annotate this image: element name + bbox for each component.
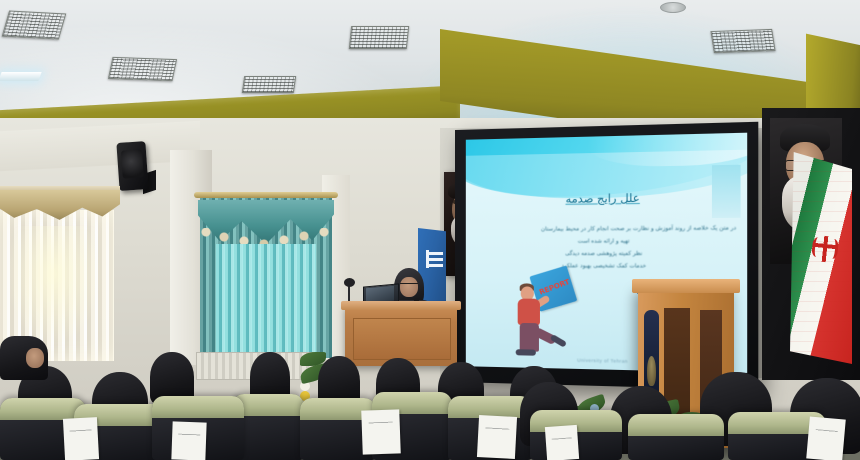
ceiling-light bbox=[0, 72, 42, 81]
slide-body-line: در متن یک خلاصه از روند آموزش و نظارت بر… bbox=[478, 222, 736, 236]
handout-text-lines bbox=[179, 434, 200, 437]
handout-text-lines bbox=[552, 437, 572, 440]
iran-emblem-icon bbox=[813, 235, 838, 263]
auditorium-seat bbox=[628, 414, 724, 460]
handout-text-lines bbox=[70, 429, 91, 432]
hvac-vent-icon bbox=[108, 57, 177, 81]
window-center-teal-curtains bbox=[200, 198, 332, 358]
handout-text-lines bbox=[369, 422, 393, 425]
curtain-rod-center bbox=[194, 192, 338, 198]
handout-paper[interactable] bbox=[806, 417, 846, 460]
handout-paper[interactable] bbox=[361, 409, 401, 454]
university-logo-icon bbox=[426, 250, 443, 268]
iran-national-flag bbox=[790, 152, 852, 364]
handout-paper[interactable] bbox=[171, 421, 206, 460]
glasses-icon bbox=[400, 283, 418, 288]
curtain-backlit-area bbox=[216, 244, 316, 358]
presenter-desk bbox=[345, 306, 457, 366]
hvac-vent-icon bbox=[242, 76, 296, 93]
handout-paper[interactable] bbox=[63, 417, 99, 460]
desk-top bbox=[341, 301, 461, 310]
slide-body-line: تهیه و ارائه شده است bbox=[478, 235, 736, 248]
desk-front-panel bbox=[353, 318, 451, 360]
shoe bbox=[550, 334, 567, 348]
legs bbox=[520, 323, 539, 352]
handout-text-lines bbox=[815, 429, 837, 433]
attendee-with-cap bbox=[0, 336, 48, 380]
hvac-vent-icon bbox=[710, 29, 775, 53]
seat-headrest-pad bbox=[628, 414, 724, 436]
face bbox=[26, 348, 44, 368]
shoe bbox=[516, 349, 536, 356]
hvac-vent-icon bbox=[349, 26, 409, 49]
conference-hall-photo: علل رایج صدمه در متن یک خلاصه از روند آم… bbox=[0, 0, 860, 460]
podium-ornament-motif bbox=[647, 356, 656, 386]
handout-paper[interactable] bbox=[545, 425, 579, 460]
torso bbox=[518, 299, 540, 326]
pa-speaker-icon bbox=[116, 141, 148, 191]
podium-top bbox=[632, 279, 740, 293]
slide-body-line: نظر کمیته پژوهشی صدمه دیدگی bbox=[478, 248, 736, 261]
handout-text-lines bbox=[486, 427, 510, 430]
slide-title-text: علل رایج صدمه bbox=[566, 192, 640, 206]
report-book-label: REPORT bbox=[538, 278, 571, 297]
curtain-fringe-trim bbox=[198, 228, 334, 244]
hvac-vent-icon bbox=[2, 10, 67, 39]
slide-title: علل رایج صدمه bbox=[466, 190, 747, 207]
slide-body: در متن یک خلاصه از روند آموزش و نظارت بر… bbox=[478, 222, 736, 273]
window-daylight-glow bbox=[6, 226, 101, 346]
smoke-detector-icon bbox=[660, 2, 686, 13]
seat-headrest-pad bbox=[152, 396, 244, 418]
handout-paper[interactable] bbox=[477, 415, 517, 459]
